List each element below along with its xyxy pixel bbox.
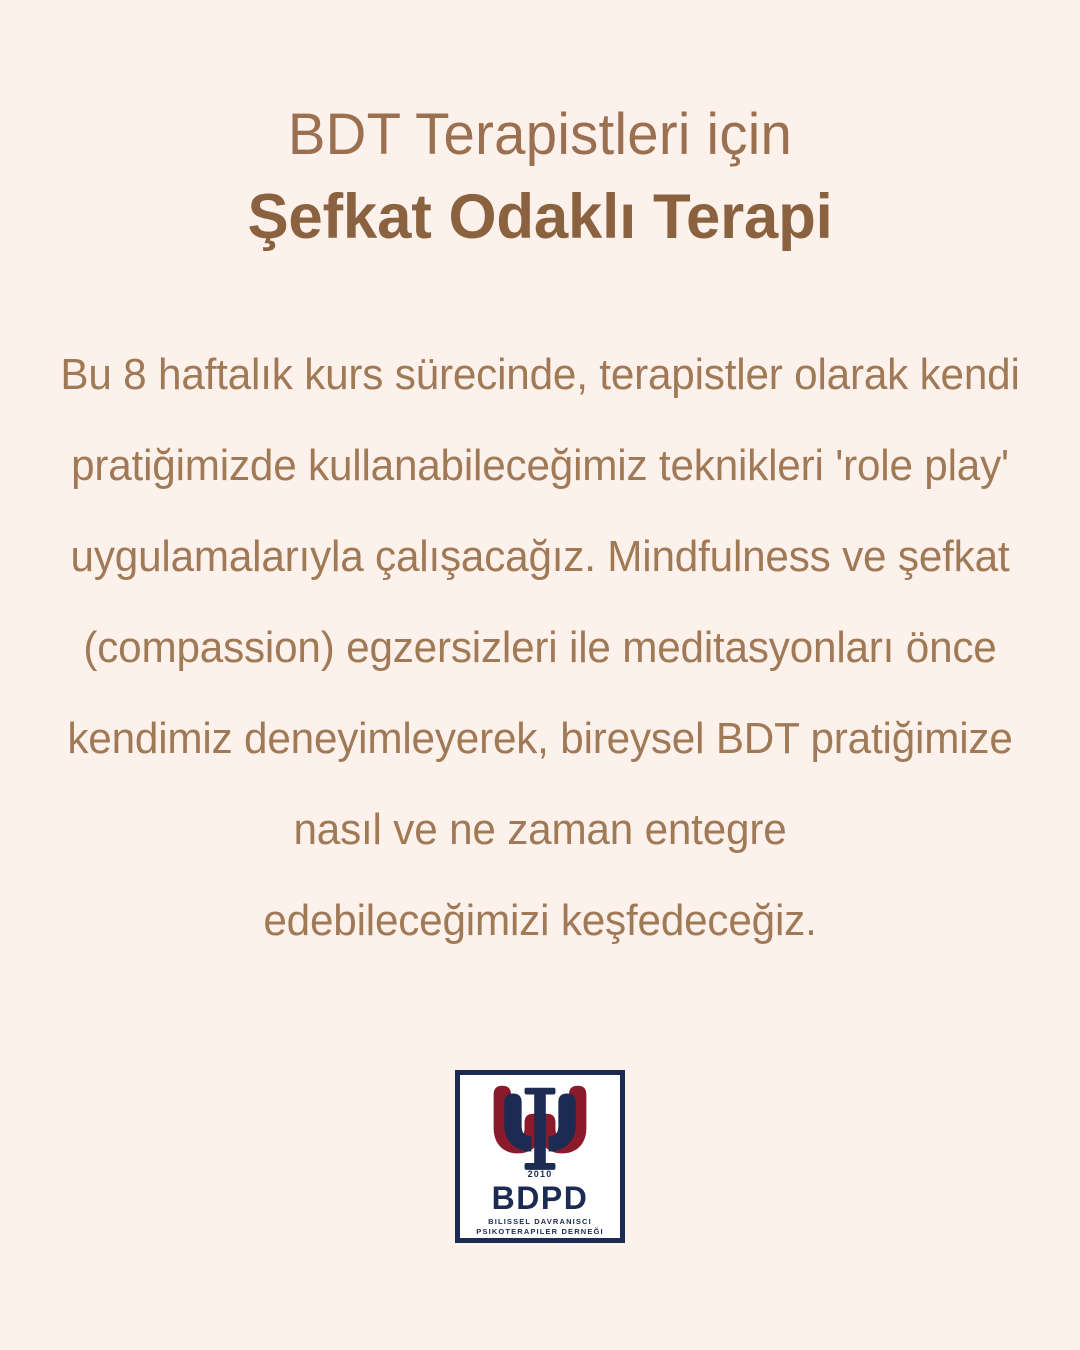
poster-canvas: BDT Terapistleri için Şefkat Odaklı Tera…: [0, 0, 1080, 1350]
description-line: Bu 8 haftalık kurs sürecinde, terapistle…: [41, 353, 1039, 397]
bdpd-psi-monogram-icon: [465, 1080, 615, 1173]
description-line: pratiğimizde kullanabileceğimiz teknikle…: [41, 444, 1039, 488]
logo-subtitle-line-2: PSIKOTERAPILER DERNEĞI: [476, 1227, 603, 1236]
logo-acronym: BDPD: [492, 1182, 589, 1214]
organization-logo: 2010 BDPD BILISSEL DAVRANISCI PSIKOTERAP…: [455, 1070, 625, 1243]
logo-subtitle: BILISSEL DAVRANISCI PSIKOTERAPILER DERNE…: [476, 1217, 603, 1238]
page-title-secondary: BDT Terapistleri için: [16, 104, 1064, 167]
logo-frame: 2010 BDPD BILISSEL DAVRANISCI PSIKOTERAP…: [455, 1070, 625, 1243]
description-line: edebileceğimizi keşfedeceğiz.: [41, 899, 1039, 943]
logo-founding-year: 2010: [528, 1170, 553, 1179]
description-line: nasıl ve ne zaman entegre: [41, 808, 1039, 852]
logo-subtitle-line-1: BILISSEL DAVRANISCI: [488, 1217, 592, 1226]
description-paragraph: Bu 8 haftalık kurs sürecinde, terapistle…: [20, 353, 1060, 943]
description-line: (compassion) egzersizleri ile meditasyon…: [41, 626, 1039, 670]
description-line: uygulamalarıyla çalışacağız. Mindfulness…: [41, 535, 1039, 579]
description-line: kendimiz deneyimleyerek, bireysel BDT pr…: [41, 717, 1039, 761]
page-title-primary: Şefkat Odaklı Terapi: [11, 177, 1069, 258]
title-block: BDT Terapistleri için Şefkat Odaklı Tera…: [0, 104, 1080, 257]
